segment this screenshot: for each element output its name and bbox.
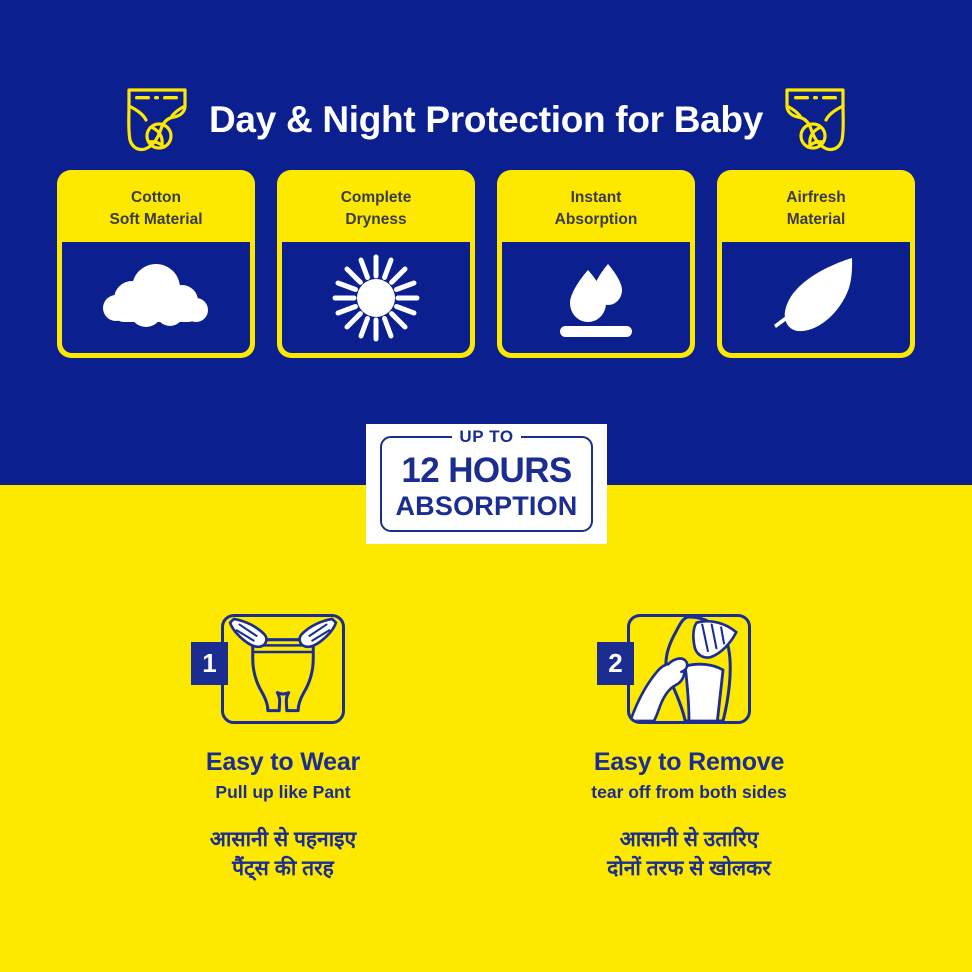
leaf-icon bbox=[764, 252, 868, 344]
diaper-icon-left bbox=[123, 84, 191, 156]
step-figure: 1 bbox=[133, 614, 433, 732]
step-hindi-line1: आसानी से उतारिए bbox=[539, 826, 839, 855]
badge-upto-row: UP TO bbox=[380, 427, 593, 447]
water-drops-icon bbox=[544, 250, 648, 346]
step-heading: Easy to Wear bbox=[133, 748, 433, 777]
step-subheading: Pull up like Pant bbox=[133, 782, 433, 803]
step-heading: Easy to Remove bbox=[539, 748, 839, 777]
feature-card-title: Complete Dryness bbox=[282, 175, 470, 242]
tear-off-sides-icon bbox=[630, 617, 748, 721]
step-illustration-frame bbox=[627, 614, 751, 724]
sun-icon bbox=[328, 250, 424, 346]
feature-title-line2: Dryness bbox=[345, 209, 406, 231]
feature-card-title: Cotton Soft Material bbox=[62, 175, 250, 242]
infographic-poster: Day & Night Protection for Baby Cotton bbox=[0, 0, 972, 972]
badge-inner: UP TO 12 HOURS ABSORPTION bbox=[380, 436, 593, 532]
header-banner: Day & Night Protection for Baby bbox=[0, 80, 972, 160]
badge-hours-label: 12 HOURS bbox=[380, 453, 593, 488]
feature-title-line1: Cotton bbox=[131, 187, 181, 209]
feature-icon-panel bbox=[502, 242, 690, 353]
feature-card-title: Airfresh Material bbox=[722, 175, 910, 242]
feature-title-line1: Airfresh bbox=[786, 187, 845, 209]
cloud-icon bbox=[94, 261, 218, 335]
badge-text-block: 12 HOURS ABSORPTION bbox=[380, 453, 593, 520]
usage-step-easy-to-wear: 1 bbox=[133, 614, 433, 883]
step-number-badge: 1 bbox=[191, 642, 228, 685]
feature-icon-panel bbox=[62, 242, 250, 353]
step-text-block: Easy to Remove tear off from both sides … bbox=[539, 748, 839, 883]
page-title: Day & Night Protection for Baby bbox=[209, 99, 763, 141]
diaper-icon-right bbox=[781, 84, 849, 156]
badge-absorption-label: ABSORPTION bbox=[380, 493, 593, 520]
step-hindi-line1: आसानी से पहनाइए bbox=[133, 826, 433, 855]
feature-title-line1: Instant bbox=[571, 187, 622, 209]
step-figure: 2 bbox=[539, 614, 839, 732]
feature-title-line2: Material bbox=[787, 209, 846, 231]
step-text-block: Easy to Wear Pull up like Pant आसानी से … bbox=[133, 748, 433, 883]
usage-steps-row: 1 bbox=[0, 614, 972, 883]
step-hindi-line2: पैंट्स की तरह bbox=[133, 855, 433, 884]
feature-card-title: Instant Absorption bbox=[502, 175, 690, 242]
feature-title-line2: Soft Material bbox=[109, 209, 202, 231]
absorption-badge: UP TO 12 HOURS ABSORPTION bbox=[366, 424, 607, 544]
feature-card-instant-absorption: Instant Absorption bbox=[497, 170, 695, 358]
feature-card-complete-dryness: Complete Dryness bbox=[277, 170, 475, 358]
feature-card-row: Cotton Soft Material bbox=[57, 170, 915, 358]
feature-icon-panel bbox=[722, 242, 910, 353]
feature-title-line2: Absorption bbox=[555, 209, 638, 231]
badge-up-to-label: UP TO bbox=[452, 427, 520, 446]
usage-step-easy-to-remove: 2 bbox=[539, 614, 839, 883]
step-hindi-line2: दोनों तरफ से खोलकर bbox=[539, 855, 839, 884]
step-number-badge: 2 bbox=[597, 642, 634, 685]
step-hindi-text: आसानी से उतारिए दोनों तरफ से खोलकर bbox=[539, 826, 839, 883]
feature-icon-panel bbox=[282, 242, 470, 353]
pull-up-pant-icon bbox=[224, 617, 342, 721]
step-illustration-frame bbox=[221, 614, 345, 724]
step-hindi-text: आसानी से पहनाइए पैंट्स की तरह bbox=[133, 826, 433, 883]
feature-title-line1: Complete bbox=[341, 187, 412, 209]
feature-card-cotton-soft-material: Cotton Soft Material bbox=[57, 170, 255, 358]
step-subheading: tear off from both sides bbox=[539, 782, 839, 803]
feature-card-airfresh-material: Airfresh Material bbox=[717, 170, 915, 358]
